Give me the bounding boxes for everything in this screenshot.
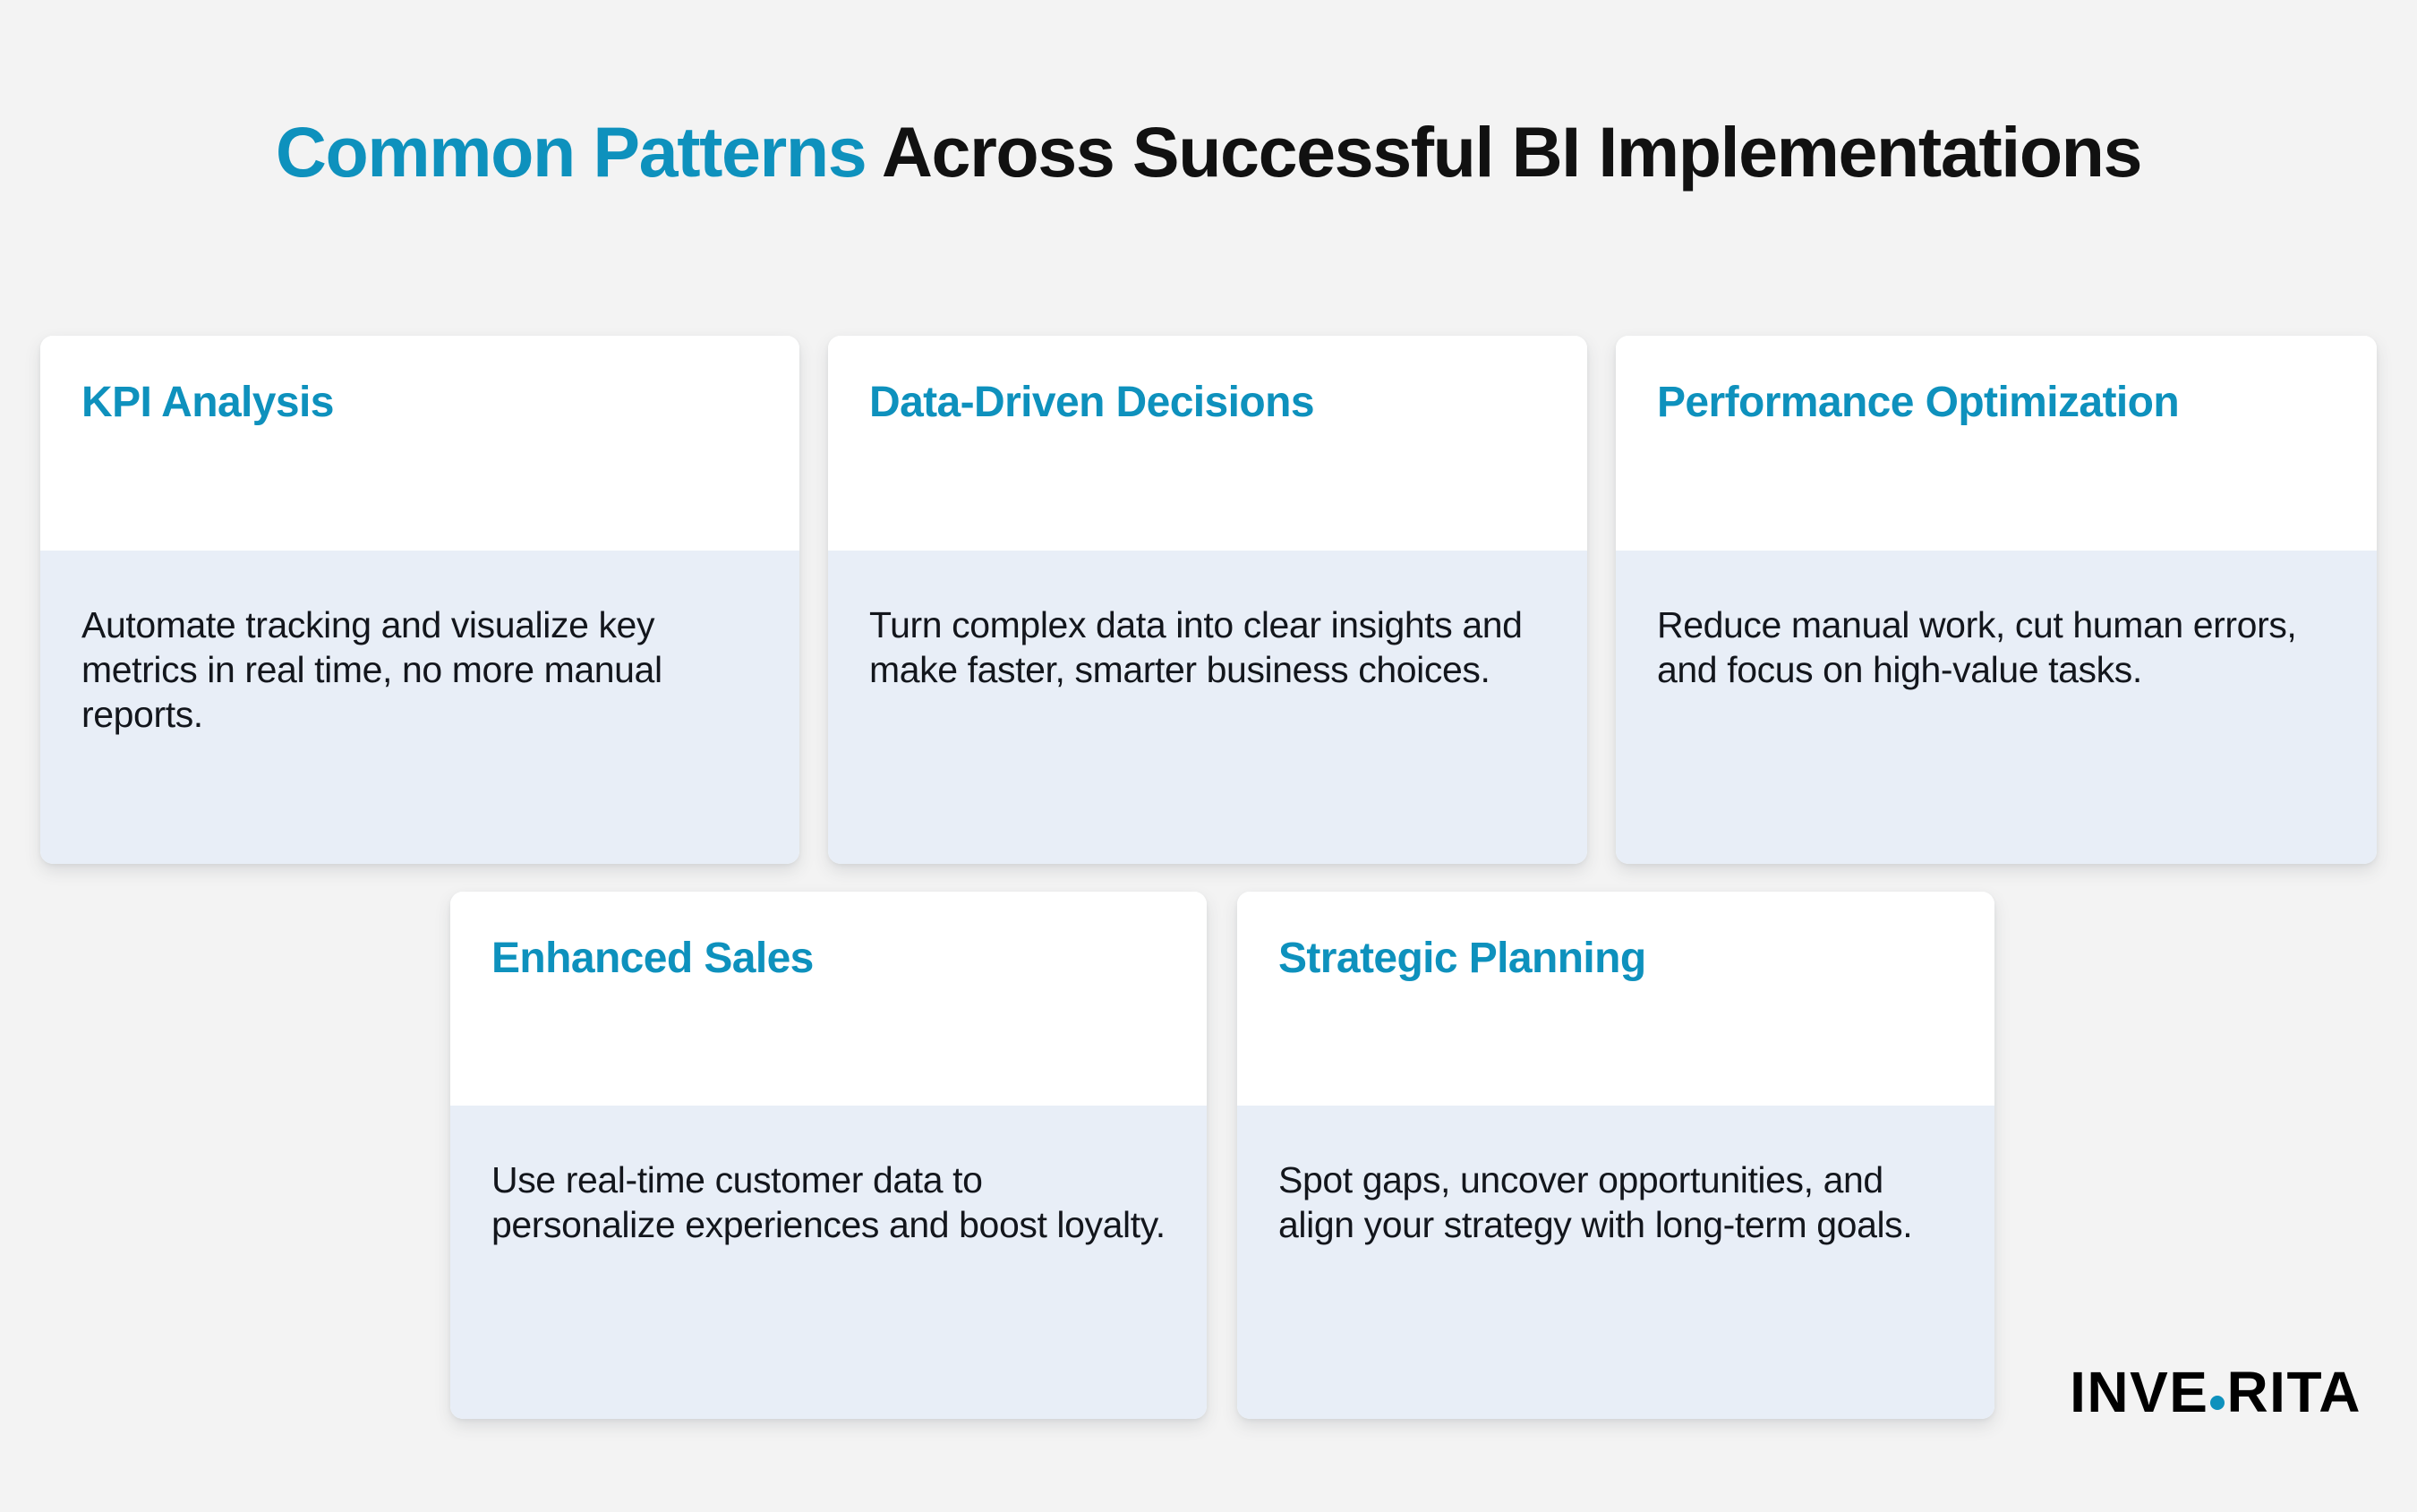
infographic-canvas: Common Patterns Across Successful BI Imp… — [0, 0, 2417, 1512]
card-body: Automate tracking and visualize key metr… — [40, 551, 799, 864]
logo-text-part-one: INVE — [2070, 1363, 2208, 1421]
card-body: Spot gaps, uncover opportunities, and al… — [1237, 1106, 1994, 1419]
card-description: Use real-time customer data to personali… — [491, 1157, 1166, 1247]
logo-text-part-two: RITA — [2226, 1363, 2361, 1421]
card-header: Strategic Planning — [1237, 892, 1994, 1106]
card-title: Performance Optimization — [1657, 379, 2336, 427]
card-header: KPI Analysis — [40, 336, 799, 551]
card-title: Strategic Planning — [1278, 935, 1953, 983]
page-title-rest: Across Successful BI Implementations — [866, 112, 2141, 192]
card-header: Data-Driven Decisions — [828, 336, 1587, 551]
card-kpi-analysis: KPI Analysis Automate tracking and visua… — [40, 336, 799, 864]
logo-dot-icon — [2210, 1396, 2225, 1410]
card-data-driven-decisions: Data-Driven Decisions Turn complex data … — [828, 336, 1587, 864]
card-body: Reduce manual work, cut human errors, an… — [1616, 551, 2377, 864]
card-performance-optimization: Performance Optimization Reduce manual w… — [1616, 336, 2377, 864]
page-title-accent: Common Patterns — [276, 112, 866, 192]
card-description: Automate tracking and visualize key metr… — [81, 602, 758, 737]
card-title: Enhanced Sales — [491, 935, 1166, 983]
card-body: Turn complex data into clear insights an… — [828, 551, 1587, 864]
inverita-logo: INVERITA — [2070, 1367, 2361, 1417]
card-description: Turn complex data into clear insights an… — [869, 602, 1546, 692]
card-body: Use real-time customer data to personali… — [450, 1106, 1207, 1419]
card-enhanced-sales: Enhanced Sales Use real-time customer da… — [450, 892, 1207, 1419]
card-description: Spot gaps, uncover opportunities, and al… — [1278, 1157, 1953, 1247]
card-strategic-planning: Strategic Planning Spot gaps, uncover op… — [1237, 892, 1994, 1419]
card-header: Enhanced Sales — [450, 892, 1207, 1106]
page-title: Common Patterns Across Successful BI Imp… — [269, 112, 2148, 192]
card-title: KPI Analysis — [81, 379, 758, 427]
card-header: Performance Optimization — [1616, 336, 2377, 551]
logo-wordmark: INVERITA — [2070, 1363, 2361, 1421]
card-description: Reduce manual work, cut human errors, an… — [1657, 602, 2336, 692]
card-title: Data-Driven Decisions — [869, 379, 1546, 427]
